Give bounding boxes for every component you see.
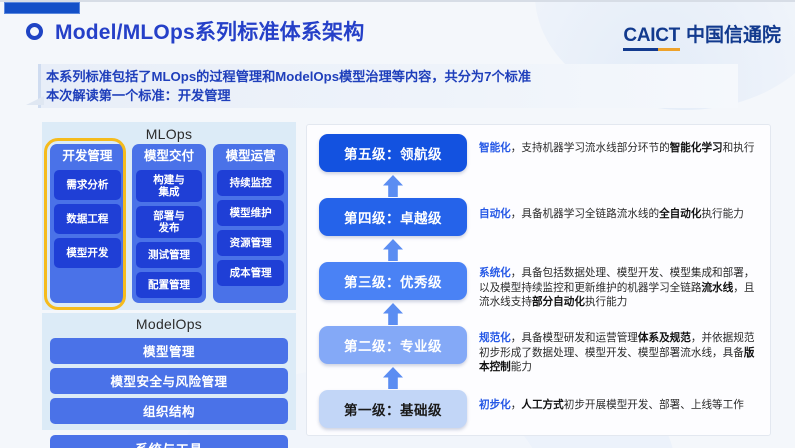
mlops-heading: MLOps [48,125,290,144]
chip-model-development[interactable]: 模型开发 [54,238,121,268]
level-4-description: 自动化，具备机器学习全链路流水线的全自动化执行能力 [479,207,755,222]
desc-sep: ， [511,267,522,279]
desc-text-b: 执行能力 [701,208,743,220]
ring-bullet-icon [26,23,43,40]
level-4-box[interactable]: 第四级：卓越级 [319,198,467,236]
desc-keyword: 规范化 [479,332,511,344]
mlops-section: MLOps 开发管理 需求分析 数据工程 模型开发 模型交付 构建与 集成 部署… [42,122,296,310]
bar-model-management[interactable]: 模型管理 [50,338,288,364]
mlops-column-model-operations[interactable]: 模型运营 持续监控 模型维护 资源管理 成本管理 [213,144,288,303]
desc-keyword: 系统化 [479,267,511,279]
modelops-heading: ModelOps [50,315,288,334]
caict-logo: CAICT 中国信通院 [623,20,781,51]
desc-keyword: 初步化 [479,399,511,411]
level-2-box[interactable]: 第二级：专业级 [319,326,467,364]
desc-text-a: 具备机器学习全链路流水线的 [521,208,659,220]
chip-cost-management[interactable]: 成本管理 [217,260,284,286]
desc-bold-a: 流水线 [701,282,733,294]
logo-underline-blue [623,48,658,51]
chip-data-engineering[interactable]: 数据工程 [54,204,121,234]
desc-sep: ， [511,332,522,344]
chip-requirement-analysis[interactable]: 需求分析 [54,170,121,200]
desc-keyword: 智能化 [479,142,511,154]
mlops-column-model-delivery[interactable]: 模型交付 构建与 集成 部署与 发布 测试管理 配置管理 [132,144,207,303]
up-arrow-icon [383,367,403,389]
chip-continuous-monitoring[interactable]: 持续监控 [217,170,284,196]
column-title: 模型交付 [136,147,203,166]
column-title: 开发管理 [54,147,121,166]
modelops-section: ModelOps 模型管理 模型安全与风险管理 组织结构 [42,313,296,430]
level-1-box[interactable]: 第一级：基础级 [319,390,467,428]
chip-resource-management[interactable]: 资源管理 [217,230,284,256]
chip-build-integration[interactable]: 构建与 集成 [136,170,203,202]
top-divider [0,0,795,2]
logo-chinese-name: 中国信通院 [686,20,781,51]
maturity-levels-panel: 第五级：领航级 第四级：卓越级 第三级：优秀级 第二级：专业级 第一级：基础级 … [306,124,771,436]
top-left-accent-bar [4,2,80,14]
logo-mark: CAICT [623,25,680,51]
desc-bold-a: 人工方式 [521,399,563,411]
maturity-level-ladder: 第五级：领航级 第四级：卓越级 第三级：优秀级 第二级：专业级 第一级：基础级 [319,134,467,428]
desc-text-a: 支持机器学习流水线部分环节的 [521,142,669,154]
desc-sep: ， [511,399,522,411]
desc-sep: ， [511,142,522,154]
column-title: 模型运营 [217,147,284,166]
standards-architecture-panel: MLOps 开发管理 需求分析 数据工程 模型开发 模型交付 构建与 集成 部署… [42,122,296,448]
level-5-box[interactable]: 第五级：领航级 [319,134,467,172]
level-5-description: 智能化，支持机器学习流水线部分环节的智能化学习和执行 [479,141,755,156]
bar-systems-and-tools[interactable]: 系统与工具 [50,435,288,448]
chip-model-maintenance[interactable]: 模型维护 [217,200,284,226]
mlops-columns: 开发管理 需求分析 数据工程 模型开发 模型交付 构建与 集成 部署与 发布 测… [48,144,290,303]
desc-text-b: 初步开展模型开发、部署、上线等工作 [564,399,744,411]
page-title: Model/MLOps系列标准体系架构 [55,16,364,46]
up-arrow-icon [383,175,403,197]
up-arrow-icon [383,303,403,325]
chip-deploy-release[interactable]: 部署与 发布 [136,206,203,238]
chip-config-management[interactable]: 配置管理 [136,272,203,298]
desc-bold-a: 体系及规范 [638,332,691,344]
slide-header: Model/MLOps系列标准体系架构 CAICT 中国信通院 [0,16,795,58]
desc-bold-a: 智能化学习 [670,142,723,154]
bar-model-security-risk[interactable]: 模型安全与风险管理 [50,368,288,394]
desc-text-c: 能力 [511,361,532,373]
mlops-column-dev-management[interactable]: 开发管理 需求分析 数据工程 模型开发 [50,144,125,303]
chip-test-management[interactable]: 测试管理 [136,242,203,268]
subtitle-text: 本系列标准包括了MLOps的过程管理和ModelOps模型治理等内容，共分为7个… [46,67,531,105]
level-3-box[interactable]: 第三级：优秀级 [319,262,467,300]
level-3-description: 系统化，具备包括数据处理、模型开发、模型集成和部署，以及模型持续监控和更新维护的… [479,266,755,310]
bar-organization-structure[interactable]: 组织结构 [50,398,288,424]
up-arrow-icon [383,239,403,261]
desc-sep: ， [511,208,522,220]
subtitle-line-1: 本系列标准包括了MLOps的过程管理和ModelOps模型治理等内容，共分为7个… [46,67,531,86]
level-2-description: 规范化，具备模型研发和运营管理体系及规范，并依据规范初步形成了数据处理、模型开发… [479,331,755,375]
subtitle-line-2: 本次解读第一个标准：开发管理 [46,86,531,105]
desc-bold-a: 全自动化 [659,208,701,220]
desc-bold-b: 部分自动化 [532,296,585,308]
level-1-description: 初步化，人工方式初步开展模型开发、部署、上线等工作 [479,398,755,413]
desc-keyword: 自动化 [479,208,511,220]
logo-mark-text: CAICT [623,25,680,46]
desc-text-c: 执行能力 [585,296,627,308]
slide-canvas: Model/MLOps系列标准体系架构 CAICT 中国信通院 本系列标准包括了… [0,0,795,448]
desc-text-b: 和执行 [723,142,755,154]
logo-underline-orange [658,48,679,51]
desc-text-a: 具备模型研发和运营管理 [521,332,638,344]
